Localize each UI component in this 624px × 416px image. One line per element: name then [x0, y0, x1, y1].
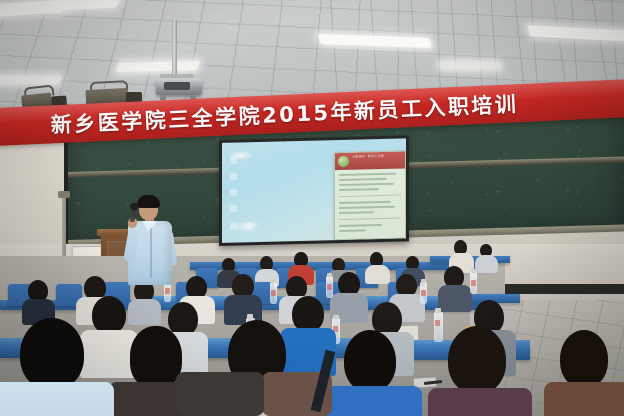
- slide-text-line: [339, 229, 366, 232]
- projected-window-body: [335, 168, 405, 232]
- bottle-cap: [333, 315, 339, 319]
- side-wall-skirting: [505, 284, 624, 294]
- desktop-icon[interactable]: [230, 189, 237, 196]
- wall-pole-head: [58, 191, 70, 198]
- bottle-cap: [247, 314, 253, 319]
- projector-mount-pole: [172, 20, 177, 76]
- app-logo-icon: [338, 156, 349, 167]
- slide-text-line: [339, 173, 396, 176]
- projection-screen: 入职培训 · 新员工手册: [222, 138, 406, 242]
- panel-light-icon: [116, 61, 200, 71]
- bottle-cap: [327, 273, 332, 277]
- desktop-icon[interactable]: [230, 205, 237, 212]
- desktop-icon[interactable]: [230, 223, 237, 230]
- water-bottle[interactable]: [326, 276, 333, 298]
- bottle-cap: [421, 279, 426, 283]
- slide-text-line: [339, 188, 379, 191]
- projected-window[interactable]: 入职培训 · 新员工手册: [334, 150, 406, 240]
- microphone-head-icon: [130, 203, 138, 210]
- projected-window-title: 入职培训 · 新员工手册: [352, 154, 403, 160]
- water-bottle[interactable]: [434, 312, 443, 342]
- backpack: [176, 372, 264, 416]
- presenter-shirt-placket: [150, 228, 152, 278]
- projection-screen-frame: 入职培训 · 新员工手册: [219, 135, 409, 246]
- bottle-cap: [471, 269, 476, 273]
- panel-light-icon: [439, 62, 501, 69]
- desktop-icon[interactable]: [230, 173, 237, 180]
- slide-text-line: [339, 224, 382, 227]
- slide-divider: [339, 195, 401, 198]
- desktop-icon[interactable]: [246, 222, 253, 229]
- presenter-hair: [137, 195, 160, 208]
- slide-text-line: [339, 206, 395, 209]
- panel-light-icon: [0, 76, 61, 84]
- lecture-hall-photo: 新乡医学院三全学院2015年新员工入职培训 入职培训 · 新员工手册: [0, 0, 624, 416]
- bottle-cap: [271, 279, 276, 283]
- slide-text-line: [339, 201, 391, 204]
- water-bottle[interactable]: [270, 282, 277, 304]
- slide-text-line: [339, 178, 387, 181]
- water-bottle[interactable]: [470, 272, 477, 294]
- water-bottle[interactable]: [420, 282, 427, 304]
- wall-pole: [62, 196, 66, 258]
- slide-text-line: [339, 211, 374, 214]
- slide-divider: [339, 218, 401, 221]
- ceiling-projector-icon: [156, 78, 202, 95]
- slide-text-line: [339, 183, 394, 186]
- desktop-icon[interactable]: [230, 157, 237, 164]
- projected-window-titlebar: 入职培训 · 新员工手册: [335, 151, 405, 170]
- bottle-cap: [435, 308, 441, 313]
